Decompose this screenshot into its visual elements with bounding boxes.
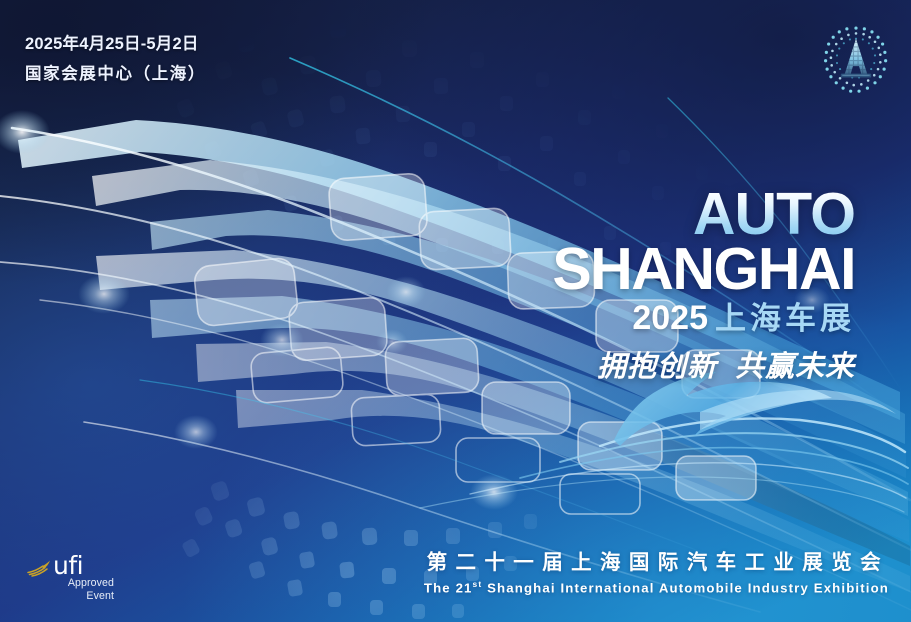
event-dates: 2025年4月25日-5月2日 <box>25 32 206 58</box>
ufi-wordmark: ufi <box>53 554 83 577</box>
footer-en-post: Shanghai International Automobile Indust… <box>482 580 889 595</box>
footer-title-cn: 第二十一届上海国际汽车工业展览会 <box>424 545 891 575</box>
event-info-block: 2025年4月25日-5月2日 国家会展中心（上海） <box>25 32 206 87</box>
slogan-part-2: 共赢未来 <box>735 351 855 383</box>
title-year: 2025 <box>632 299 708 337</box>
ufi-approved-event-logo: ufi Approved Event <box>26 554 114 602</box>
auto-shanghai-emblem <box>818 20 894 100</box>
ufi-approved-label: Approved <box>26 577 114 590</box>
ufi-wordmark-row: ufi <box>26 554 114 577</box>
footer-en-ordinal: st <box>473 579 483 589</box>
title-year-cn-line: 2025上海车展 <box>552 300 855 336</box>
poster-canvas: 2025年4月25日-5月2日 国家会展中心（上海） <box>0 0 911 622</box>
title-block: AUTO SHANGHAI 2025上海车展 拥抱创新共赢未来 <box>552 186 855 385</box>
ufi-event-label: Event <box>26 590 114 603</box>
title-name-cn: 上海车展 <box>715 301 855 336</box>
footer-title-en: The 21st Shanghai International Automobi… <box>424 579 891 595</box>
footer-en-pre: The 21 <box>424 580 473 595</box>
slogan: 拥抱创新共赢未来 <box>552 343 855 385</box>
title-shanghai: SHANGHAI <box>552 240 855 299</box>
ufi-swoosh-icon <box>26 557 52 577</box>
footer-title-block: 第二十一届上海国际汽车工业展览会 The 21st Shanghai Inter… <box>424 545 891 595</box>
slogan-part-1: 拥抱创新 <box>597 351 717 383</box>
circular-dotted-a-emblem-icon <box>818 20 894 100</box>
title-auto: AUTO <box>552 186 855 243</box>
event-venue: 国家会展中心（上海） <box>25 62 206 88</box>
